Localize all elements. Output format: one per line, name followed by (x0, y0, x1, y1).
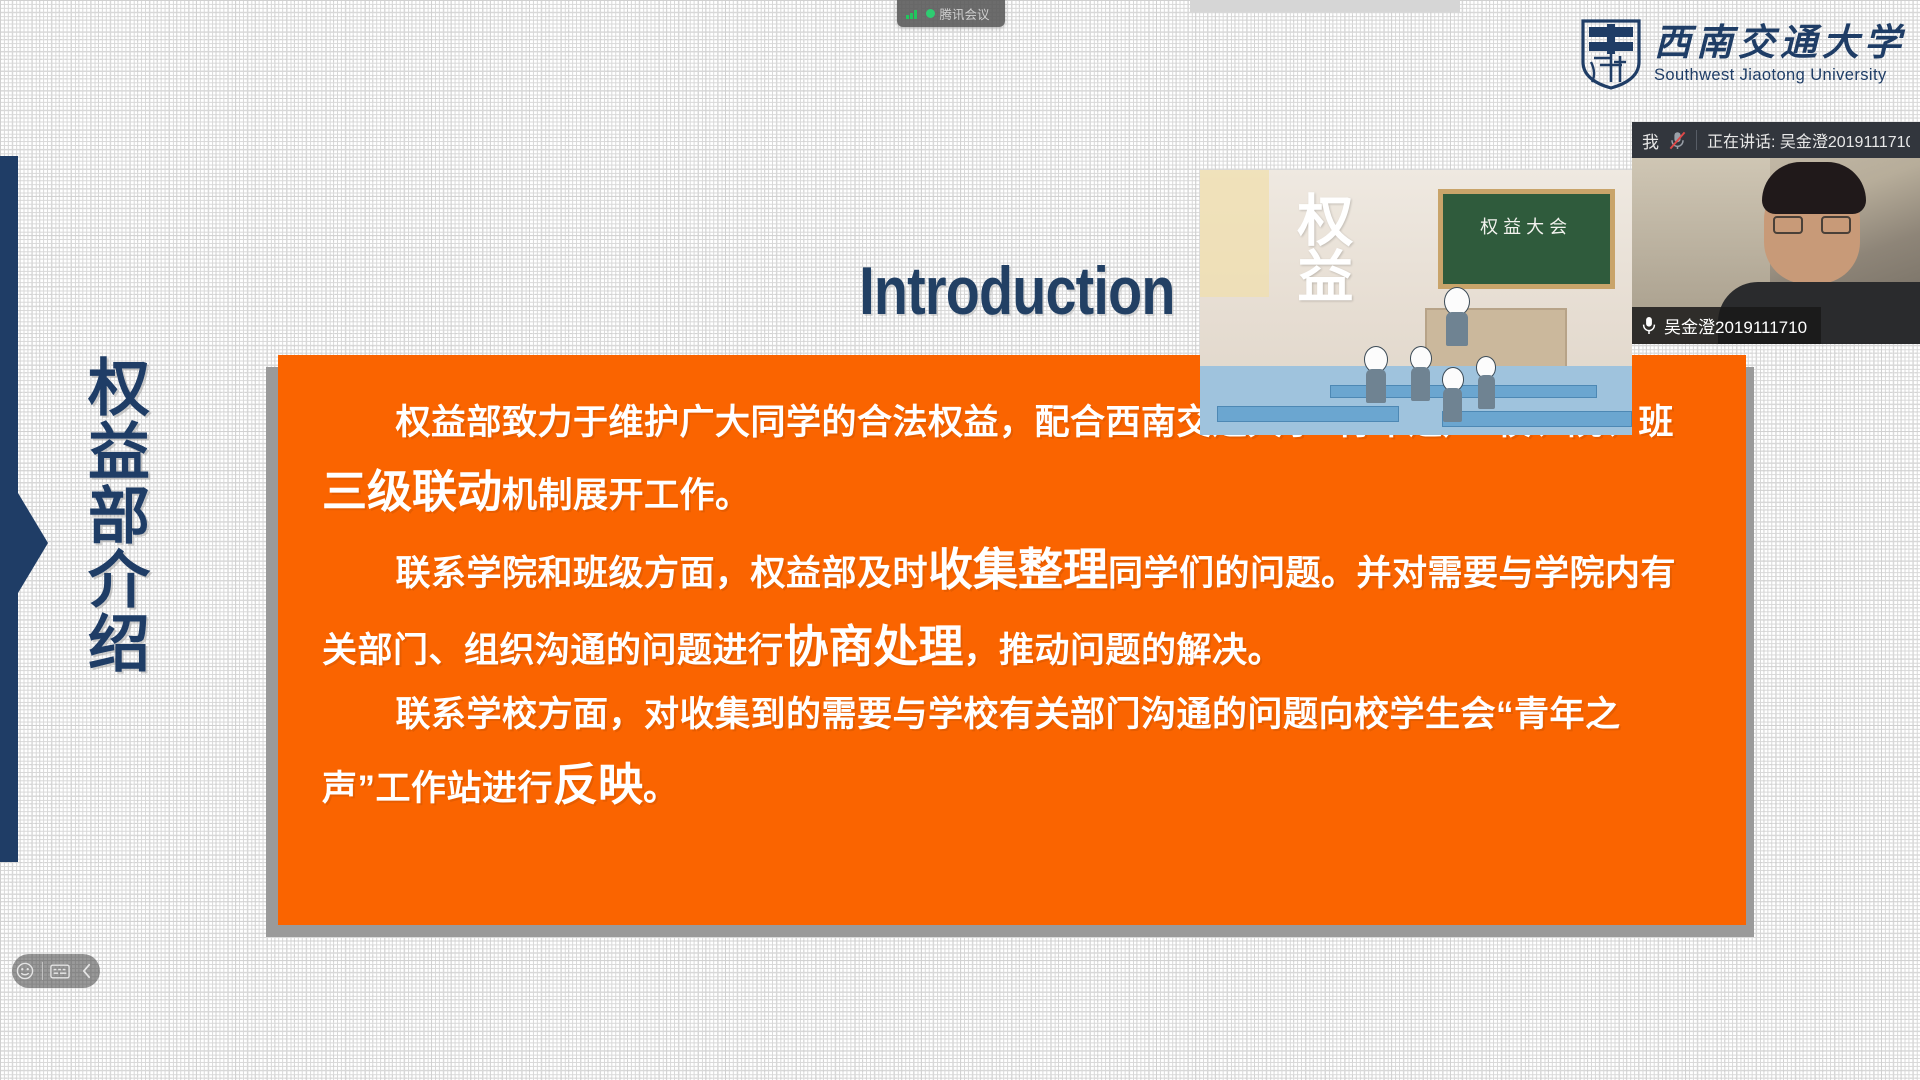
presentation-controls[interactable] (12, 954, 100, 988)
self-participant-panel[interactable]: 我 正在讲话: 吴金澄2019111710; 吴金澄2019111710 (1632, 122, 1920, 344)
video-bench (1217, 406, 1398, 422)
tencent-meeting-floating-bar[interactable]: 腾讯会议 (897, 0, 1005, 27)
me-label: 我 (1642, 128, 1659, 153)
content-panel: 权益部致力于维护广大同学的合法权益，配合西南交通大学“青年之声”校、院、班三级联… (278, 355, 1746, 925)
video-figure (1364, 346, 1388, 403)
body-text: ，推动问题的解决。 (964, 631, 1284, 670)
speaking-status-text: 正在讲话: 吴金澄2019111710; (1707, 128, 1910, 152)
sidebar-arrow-icon (18, 493, 48, 593)
body-text: 联系学校方面，对收集到的需要与学校有关部门沟通的问题向校学生会“青年之声”工作站… (322, 695, 1621, 807)
status-divider (1696, 130, 1697, 150)
body-text: 。 (643, 769, 679, 808)
self-video-feed: 吴金澄2019111710 (1632, 158, 1920, 344)
video-figure (1410, 346, 1432, 401)
signal-bars-icon (906, 8, 921, 19)
university-name-cn: 西南交通大学 (1654, 24, 1906, 61)
paragraph: 联系学校方面，对收集到的需要与学校有关部门沟通的问题向校学生会“青年之声”工作站… (322, 685, 1702, 823)
participant-name: 吴金澄2019111710 (1664, 313, 1807, 338)
video-figure (1442, 367, 1464, 422)
emphasis-text: 协商处理 (784, 621, 964, 672)
participant-name-badge: 吴金澄2019111710 (1632, 307, 1821, 344)
video-bench (1442, 411, 1632, 427)
emphasis-text: 反映 (553, 759, 643, 810)
video-person-glasses (1773, 216, 1851, 234)
emphasis-text: 收集整理 (928, 544, 1108, 595)
participant-status-bar: 我 正在讲话: 吴金澄2019111710; (1632, 122, 1920, 158)
video-chalkboard: 权益大会 (1438, 189, 1615, 290)
university-crest-icon (1580, 18, 1642, 90)
microphone-muted-icon[interactable] (1669, 131, 1686, 150)
paragraph: 联系学院和班级方面，权益部及时收集整理同学们的问题。并对需要与学院内有关部门、组… (322, 531, 1702, 686)
meeting-app-label: 腾讯会议 (940, 4, 990, 23)
chalkboard-text: 权益大会 (1443, 213, 1610, 239)
chevron-left-icon[interactable] (77, 961, 97, 981)
background-window-strip (1190, 0, 1460, 12)
microphone-icon (1642, 316, 1656, 335)
video-calligraphy-text: 权益 (1213, 191, 1347, 303)
body-text: 联系学院和班级方面，权益部及时 (396, 554, 929, 593)
record-dot-icon (926, 9, 935, 18)
emphasis-text: 三级联动 (322, 466, 502, 517)
video-figure (1476, 356, 1496, 408)
shared-content-video[interactable]: 权益大会 权益 (1200, 170, 1632, 435)
video-figure (1444, 287, 1470, 346)
chapter-vertical-title: 权益部介绍 (72, 355, 144, 675)
video-person-hair (1762, 162, 1866, 214)
university-name-en: Southwest Jiaotong University (1654, 67, 1906, 84)
page-title: Introduction (860, 252, 1175, 330)
controls-divider (42, 962, 43, 980)
subtitles-icon[interactable] (50, 961, 70, 981)
university-logo: 西南交通大学 Southwest Jiaotong University (1580, 18, 1906, 90)
sidebar-accent-bar (0, 156, 18, 862)
body-text: 机制展开工作。 (502, 476, 751, 515)
university-name-block: 西南交通大学 Southwest Jiaotong University (1654, 24, 1906, 84)
smiley-face-icon[interactable] (15, 961, 35, 981)
